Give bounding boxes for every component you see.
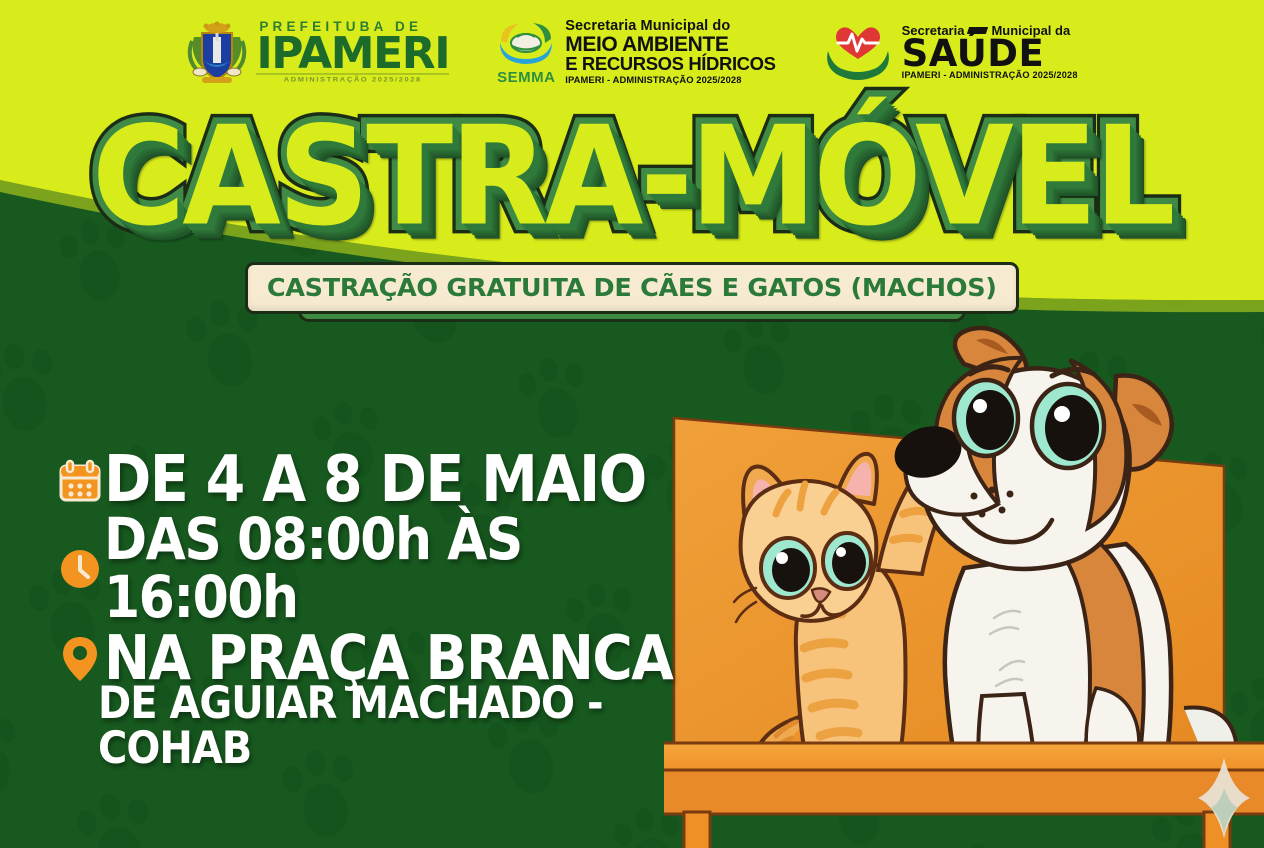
calendar-icon [58,458,102,504]
logo-semma-label: SEMMA [497,69,555,86]
subtitle-banner-wrap: CASTRAÇÃO GRATUITA DE CÃES E GATOS (MACH… [0,262,1264,314]
info-row-time: DAS 08:00h ÀS 16:00h [58,517,698,621]
subtitle-banner: CASTRAÇÃO GRATUITA DE CÃES E GATOS (MACH… [245,262,1018,314]
logo-semma-line4: IPAMERI - ADMINISTRAÇÃO 2025/2028 [565,75,775,85]
logo-saude-line3: IPAMERI - ADMINISTRAÇÃO 2025/2028 [902,71,1078,80]
cat-and-dog-illustration [664,318,1264,848]
coat-of-arms-icon [186,17,248,87]
logo-prefeitura-ipameri: PREFEITUBA DE IPAMERI ADMINISTRAÇÃO 2025… [186,17,449,87]
logo-saude-line2: SAÚDE [902,37,1078,72]
info-block: DE 4 A 8 DE MAIO DAS 08:00h ÀS 16:00h NA… [58,452,698,766]
poster: PREFEITUBA DE IPAMERI ADMINISTRAÇÃO 2025… [0,0,1264,848]
logo-saude: Secretaria Municipal da SAÚDE IPAMERI - … [822,21,1078,83]
info-time-text: DAS 08:00h ÀS 16:00h [104,511,698,627]
heart-in-hands-icon [822,21,894,83]
saude-dash-icon [967,27,988,34]
logo-semma: SEMMA Secretaria Municipal do MEIO AMBIE… [495,19,775,86]
info-date-text: DE 4 A 8 DE MAIO [104,449,646,513]
subtitle-text: CASTRAÇÃO GRATUITA DE CÃES E GATOS (MACH… [267,273,997,302]
bench [664,743,1264,848]
logo-bar: PREFEITUBA DE IPAMERI ADMINISTRAÇÃO 2025… [0,8,1264,96]
logo-semma-line2: MEIO AMBIENTE [565,34,775,55]
info-place-text-2: DE AGUIAR MACHADO - COHAB [98,681,698,771]
logo-semma-line3: E RECURSOS HÍDRICOS [565,55,775,74]
logo-ipameri-line2: IPAMERI [256,35,449,73]
logo-ipameri-line3: ADMINISTRAÇÃO 2025/2028 [256,74,449,83]
location-pin-icon [58,633,102,685]
clock-icon [58,547,102,591]
semma-emblem-icon [495,19,557,71]
logo-semma-line1: Secretaria Municipal do [565,19,775,34]
page-title-wrap: CASTRA-MÓVEL [0,117,1264,235]
info-row-date: DE 4 A 8 DE MAIO [58,452,698,509]
page-title: CASTRA-MÓVEL [92,108,1172,245]
